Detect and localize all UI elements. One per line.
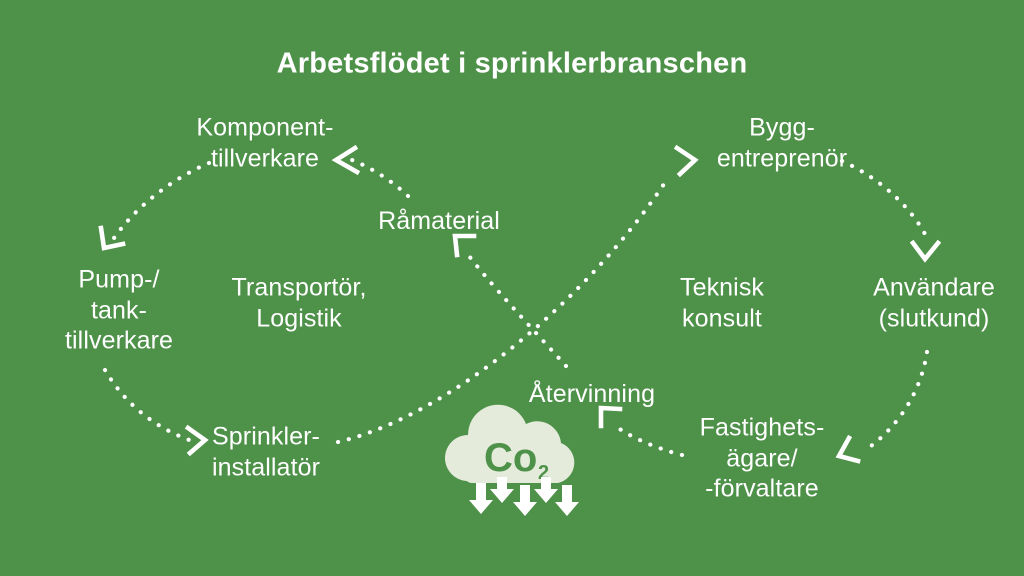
node-sprinkler-installator: Sprinkler- installatör: [212, 422, 320, 483]
connector-pump-to-sprinkler: [105, 370, 192, 441]
node-anvandare-slutkund: Användare (slutkund): [873, 273, 995, 334]
arrowhead-into-atervinning: [601, 408, 620, 426]
node-komponent-tillverkare: Komponent- tillverkare: [196, 113, 333, 174]
connector-fastighet-to-atervinning: [614, 425, 682, 455]
node-pump-tank-tillverkare: Pump-/ tank- tillverkare: [65, 264, 173, 356]
arrowhead-into-anvandare: [913, 243, 938, 259]
node-teknisk-konsult: Teknisk konsult: [680, 273, 764, 334]
page-title: Arbetsflödet i sprinklerbranschen: [277, 48, 748, 81]
connector-komponent-to-pump: [112, 163, 209, 241]
arrowhead-into-sprinkler: [188, 428, 205, 453]
arrowhead-into-pump: [101, 228, 123, 248]
co2-cloud-icon: Co 2: [428, 397, 598, 527]
diagram-canvas: Arbetsflödet i sprinklerbranschen: [0, 0, 1024, 576]
node-bygg-entreprenor: Bygg- entreprenör: [717, 113, 847, 174]
connector-anvandare-to-fastighet: [864, 352, 927, 451]
arrowhead-into-komponent: [336, 148, 357, 172]
node-transportor-logistik: Transportör, Logistik: [231, 273, 366, 334]
arrowhead-into-fastighet: [839, 438, 858, 461]
connector-bygg-to-anvandare: [842, 161, 928, 240]
node-fastighetsagare-forvaltare: Fastighets- ägare/ -förvaltare: [700, 412, 825, 504]
connector-atervinning-to-ramaterial: [466, 252, 566, 366]
arrowhead-into-ramaterial: [455, 236, 474, 255]
co2-label: Co: [484, 436, 537, 480]
arrowhead-into-bygg: [677, 148, 695, 174]
node-ramaterial: Råmaterial: [378, 206, 500, 237]
connector-ramaterial-to-komponent: [352, 160, 408, 196]
